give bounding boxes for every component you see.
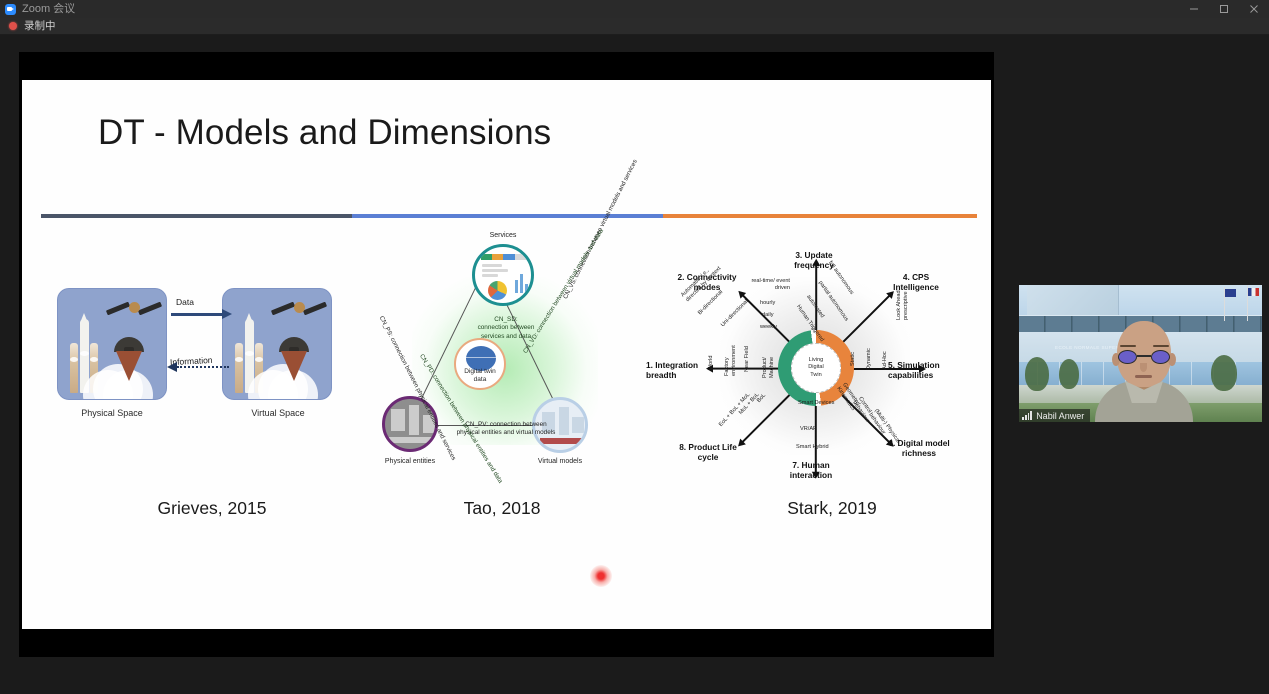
dimension-6-label: 6. Digital model richness [864, 438, 974, 459]
probe-icon [112, 337, 146, 385]
tick-weekly: weekly [760, 324, 777, 331]
figure-stark-diagram: Living Digital Twin 1. Integration bread… [650, 242, 980, 492]
tick-daily: daily [762, 312, 774, 319]
node-label-virtual-models: Virtual models [518, 457, 602, 466]
tick-near-field: Near Field [744, 346, 751, 372]
shared-screen-stage[interactable]: DT - Models and Dimensions [19, 52, 994, 657]
sunglasses-icon [1118, 350, 1170, 364]
recording-status-bar: 录制中 [0, 18, 1269, 35]
background-tree [1211, 355, 1237, 391]
probe-icon [277, 337, 311, 385]
ring-center-label: Living Digital Twin [791, 343, 841, 393]
background-tree [1059, 359, 1079, 389]
tick-smart-devices: Smart Devices [798, 400, 838, 407]
tick-smart-hybrid: Smart Hybrid [796, 444, 829, 451]
digital-twin-data-label: Digital twin data [454, 368, 506, 384]
maximize-button[interactable] [1209, 0, 1239, 18]
dimension-4-label: 4. CPS Intelligence [868, 272, 964, 293]
physical-space-label: Physical Space [42, 408, 182, 418]
dimension-7-label: 7. Human interaction [760, 460, 862, 481]
tick-static: Static [850, 352, 857, 366]
dimension-3-label: 3. Update frequency [762, 250, 866, 271]
presentation-slide: DT - Models and Dimensions [22, 80, 991, 629]
minimize-button[interactable] [1179, 0, 1209, 18]
zoom-meeting-window: Zoom 会议 录制中 DT - Models and Dimensions [0, 0, 1269, 694]
recording-status-text: 录制中 [24, 18, 56, 35]
window-title-bar: Zoom 会议 [0, 0, 1269, 18]
edge-label-cn-sd: CN_SD: connection between services and d… [436, 316, 576, 341]
record-dot-icon [9, 22, 17, 30]
tick-product-machine: Product/ Machine [762, 336, 775, 378]
slide-title: DT - Models and Dimensions [98, 113, 551, 153]
tick-vr-ar: VR/AR [800, 426, 817, 433]
rocket-icon [231, 313, 271, 395]
divider-segment-gray [41, 214, 352, 218]
eu-flag-icon [1225, 289, 1236, 297]
dimension-8-label: 8. Product Life cycle [656, 442, 760, 463]
information-arrow-icon [177, 366, 229, 368]
services-node-icon [472, 244, 534, 306]
dimension-5-label: 5. Simulation capabilities [888, 360, 984, 381]
divider-segment-orange [663, 214, 977, 218]
background-tree [1025, 357, 1049, 391]
france-flag-icon [1248, 288, 1259, 296]
edge-label-cn-pv: CN_PV: connection between physical entit… [420, 421, 592, 438]
participant-video-tile[interactable]: ECOLE NORMALE SUPERIEURE Nabil Anwer [1019, 285, 1262, 422]
figure-grieves-diagram: Data Information Physical Space Virtual … [30, 278, 360, 458]
participant-name: Nabil Anwer [1036, 411, 1084, 421]
node-label-physical-entities: Physical entities [370, 457, 450, 466]
physical-space-box [57, 288, 167, 400]
divider-segment-blue [352, 214, 663, 218]
caption-tao: Tao, 2018 [392, 498, 612, 519]
node-label-services: Services [458, 231, 548, 240]
participant-name-badge: Nabil Anwer [1019, 409, 1090, 422]
figure-tao-diagram: Services Physical entit [372, 235, 642, 490]
tick-dynamic: Dynamic [866, 348, 873, 370]
close-button[interactable] [1239, 0, 1269, 18]
red-laser-dot [590, 565, 612, 587]
satellite-icon [271, 297, 329, 323]
caption-stark: Stark, 2019 [702, 498, 962, 519]
participant-avatar [1095, 321, 1193, 422]
tick-ad-hoc: Ad-Hoc [882, 351, 889, 370]
rocket-icon [66, 313, 106, 395]
virtual-space-label: Virtual Space [208, 408, 348, 418]
title-divider [41, 214, 977, 218]
tick-world: World [708, 355, 715, 370]
tick-look-ahead: Look Ahead prescriptive [896, 276, 909, 320]
zoom-logo-icon [5, 4, 16, 15]
caption-grieves: Grieves, 2015 [82, 498, 342, 519]
window-title: Zoom 会议 [22, 0, 75, 18]
signal-bars-icon [1022, 412, 1032, 420]
tick-real-time: real-time/ event driven [742, 278, 790, 291]
data-arrow-label: Data [176, 297, 194, 307]
virtual-space-box [222, 288, 332, 400]
satellite-icon [106, 297, 164, 323]
data-arrow-icon [171, 313, 223, 316]
tick-factory-environment: Factory environment [724, 330, 737, 376]
tick-hourly: hourly [760, 300, 775, 307]
window-controls [1179, 0, 1269, 18]
